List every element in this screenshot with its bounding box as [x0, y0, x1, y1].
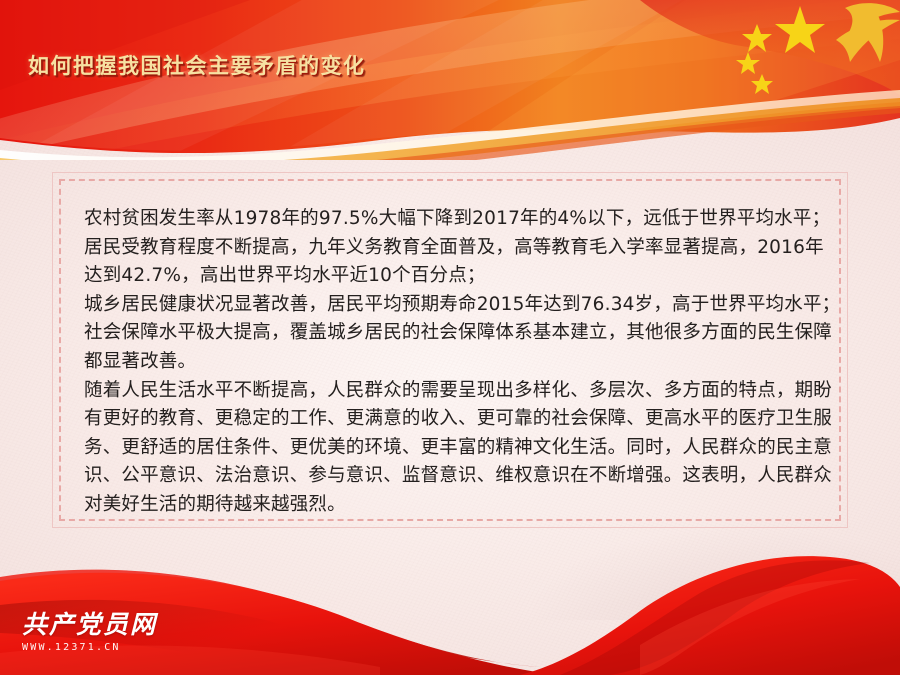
- paragraph-2: 随着人民生活水平不断提高，人民群众的需要呈现出多样化、多层次、多方面的特点，期盼…: [84, 377, 822, 520]
- text-line: 务、更舒适的居住条件、更优美的环境、更丰富的精神文化生活。同时，人民群众的民主意: [84, 437, 832, 458]
- article-body: 农村贫困发生率从1978年的97.5%大幅下降到2017年的4%以下，远低于世界…: [84, 205, 822, 520]
- poster-canvas: 如何把握我国社会主要矛盾的变化 农村贫困发生率从1978年的97.5%大幅下降到…: [0, 0, 900, 675]
- site-logo[interactable]: 共产党员网 WWW.12371.CN: [22, 612, 172, 653]
- text-line: 社会保障水平极大提高，覆盖城乡居民的社会保障体系基本建立，其他很多方面的民生保障: [84, 322, 832, 343]
- text-line: 识、公平意识、法治意识、参与意识、监督意识、维权意识在不断增强。这表明，人民群众: [84, 465, 832, 486]
- text-line: 都显著改善。: [84, 351, 196, 372]
- top-banner: [0, 0, 900, 160]
- text-line: 农村贫困发生率从1978年的97.5%大幅下降到2017年的4%以下，远低于世界…: [84, 208, 830, 229]
- text-line: 居民受教育程度不断提高，九年义务教育全面普及，高等教育毛入学率显著提高，2016…: [84, 237, 824, 258]
- text-line: 对美好生活的期待越来越强烈。: [84, 494, 346, 515]
- logo-wordmark: 共产党员网: [22, 612, 172, 637]
- logo-url: WWW.12371.CN: [22, 642, 172, 653]
- text-line: 随着人民生活水平不断提高，人民群众的需要呈现出多样化、多层次、多方面的特点，期盼: [84, 380, 832, 401]
- text-line: 城乡居民健康状况显著改善，居民平均预期寿命2015年达到76.34岁，高于世界平…: [84, 294, 840, 315]
- paragraph-1: 农村贫困发生率从1978年的97.5%大幅下降到2017年的4%以下，远低于世界…: [84, 205, 822, 377]
- text-line: 达到42.7%，高出世界平均水平近10个百分点；: [84, 265, 486, 286]
- bottom-silk-wave: [0, 535, 900, 675]
- page-title: 如何把握我国社会主要矛盾的变化: [28, 50, 366, 80]
- text-line: 有更好的教育、更稳定的工作、更满意的收入、更可靠的社会保障、更高水平的医疗卫生服: [84, 408, 832, 429]
